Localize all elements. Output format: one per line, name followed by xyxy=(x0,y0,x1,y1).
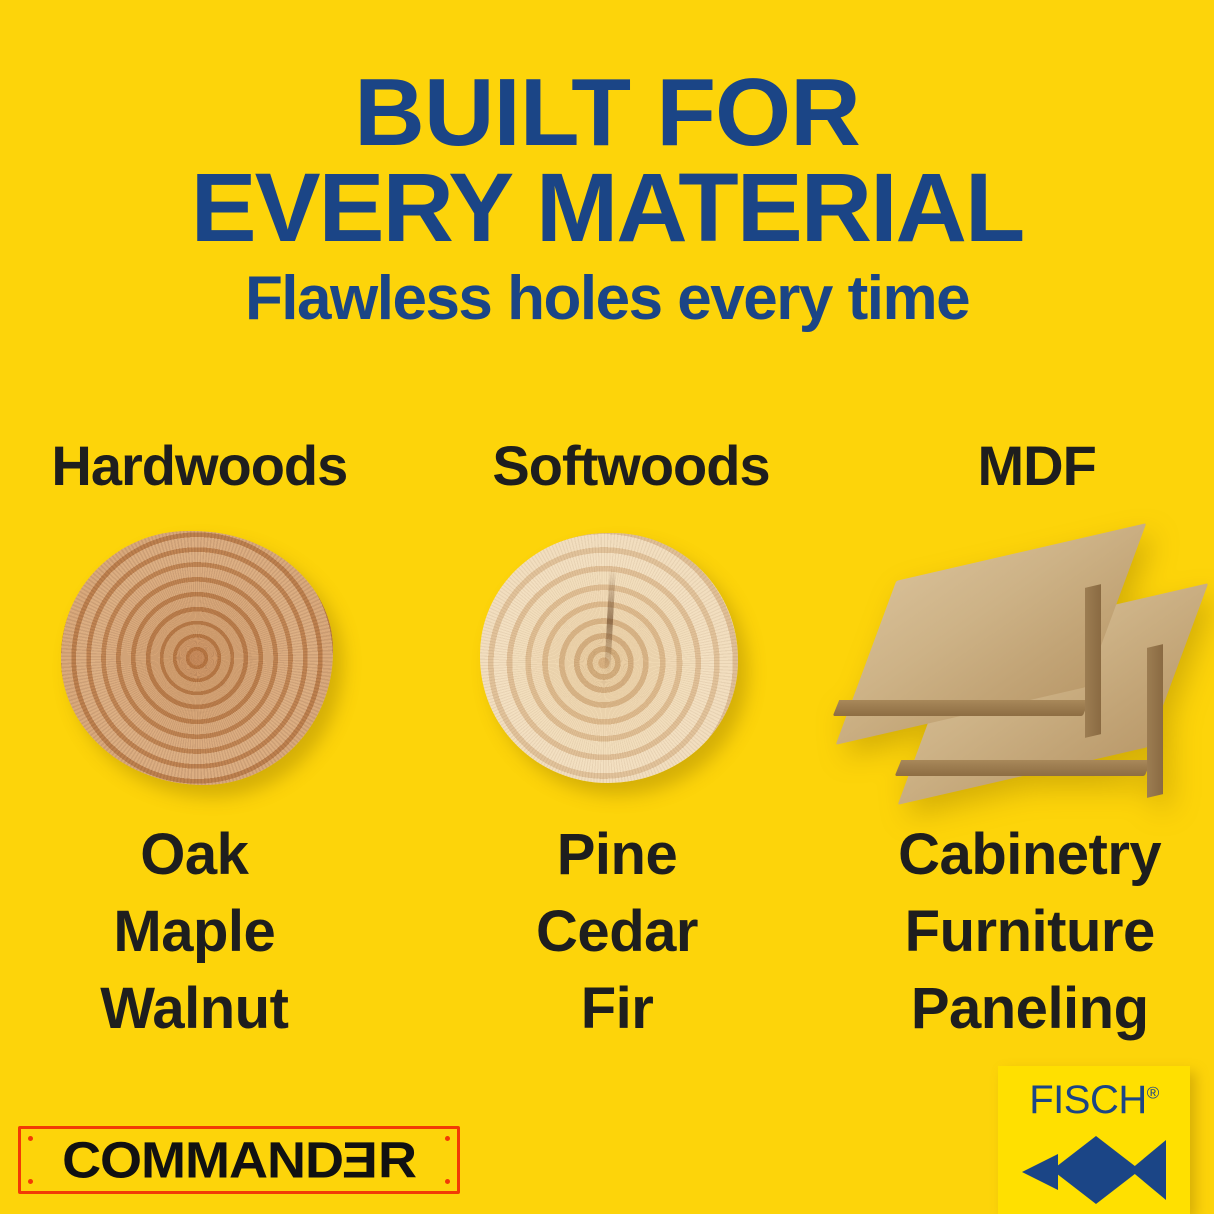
artwork-softwoods xyxy=(405,508,810,808)
headline-line-1: BUILT FOR xyxy=(0,66,1214,160)
artwork-hardwoods xyxy=(0,508,405,808)
artwork-mdf xyxy=(809,508,1214,808)
commander-wordmark: COMMANDER xyxy=(8,1131,470,1190)
log-pith-crack xyxy=(604,568,615,673)
subheadline: Flawless holes every time xyxy=(0,268,1214,330)
list-item: Cedar xyxy=(415,893,820,970)
material-columns: Hardwoods Oak Maple Walnut Softwoods Pin… xyxy=(0,438,1214,1018)
list-item: Maple xyxy=(0,893,397,970)
mdf-board-stack-icon xyxy=(856,533,1186,783)
mdf-board-edge xyxy=(832,700,1088,716)
material-list-hardwoods: Oak Maple Walnut xyxy=(0,816,397,1047)
column-hardwoods: Hardwoods Oak Maple Walnut xyxy=(0,438,405,1018)
list-item: Walnut xyxy=(0,970,397,1047)
list-item: Paneling xyxy=(827,970,1214,1047)
column-softwoods: Softwoods Pine Cedar Fir xyxy=(405,438,810,1018)
column-title-hardwoods: Hardwoods xyxy=(0,438,402,508)
mdf-board-edge xyxy=(894,760,1150,776)
commander-reversed-e: E xyxy=(343,1131,378,1190)
mdf-board-side xyxy=(1147,644,1163,798)
list-item: Furniture xyxy=(827,893,1214,970)
registered-trademark-symbol: ® xyxy=(1147,1084,1159,1103)
column-title-softwoods: Softwoods xyxy=(429,438,834,508)
column-mdf: MDF Cabinetry Furniture xyxy=(809,438,1214,1018)
list-item: Fir xyxy=(415,970,820,1047)
commander-text-after: R xyxy=(378,1132,416,1189)
commander-text-before: COMMAND xyxy=(62,1132,343,1189)
list-item: Cabinetry xyxy=(827,816,1214,893)
poster-canvas: BUILT FOR EVERY MATERIAL Flawless holes … xyxy=(0,0,1214,1214)
mdf-board-side xyxy=(1085,584,1101,738)
page-title: BUILT FOR EVERY MATERIAL xyxy=(0,66,1214,255)
column-title-mdf: MDF xyxy=(834,438,1214,508)
list-item: Oak xyxy=(0,816,397,893)
fish-icon xyxy=(1014,1132,1174,1206)
material-list-softwoods: Pine Cedar Fir xyxy=(415,816,820,1047)
fisch-wordmark: FISCH® xyxy=(998,1080,1190,1120)
fisch-logo: FISCH® xyxy=(998,1066,1190,1214)
commander-logo: COMMANDER xyxy=(18,1126,460,1194)
hardwood-log-icon xyxy=(61,531,333,785)
material-list-mdf: Cabinetry Furniture Paneling xyxy=(827,816,1214,1047)
list-item: Pine xyxy=(415,816,820,893)
softwood-log-icon xyxy=(480,533,738,783)
fisch-name-text: FISCH xyxy=(1029,1078,1147,1122)
headline-line-2: EVERY MATERIAL xyxy=(0,160,1214,255)
